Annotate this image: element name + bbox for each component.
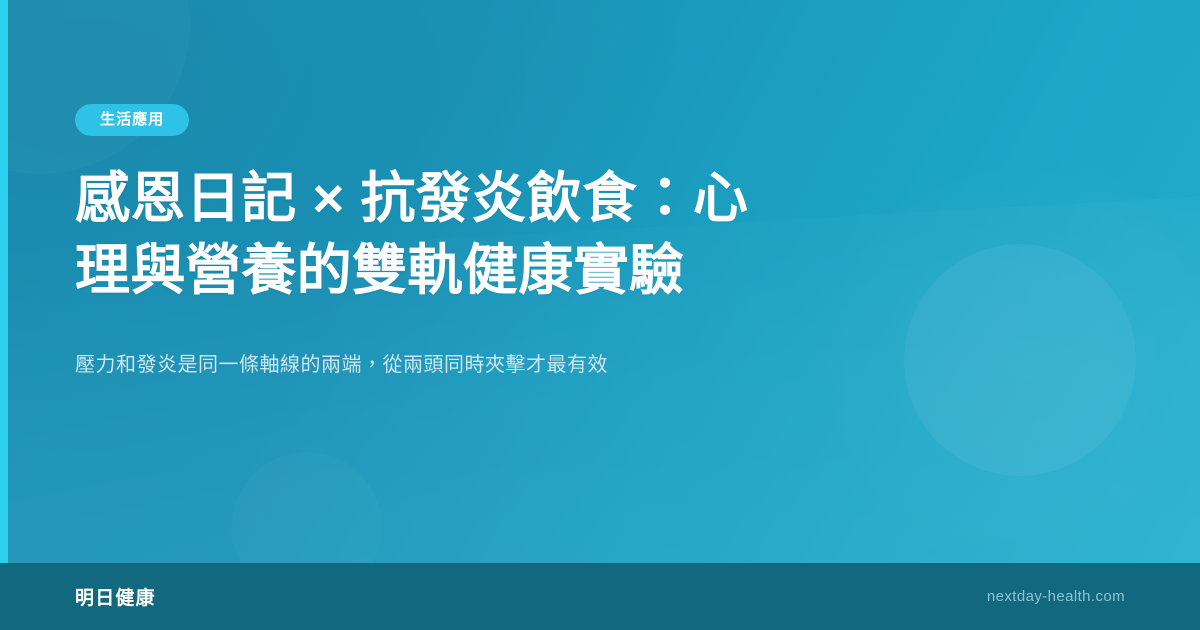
og-share-card: 生活應用 感恩日記 × 抗發炎飲食：心理與營養的雙軌健康實驗 壓力和發炎是同一條… [0, 0, 1200, 630]
card-content: 生活應用 感恩日記 × 抗發炎飲食：心理與營養的雙軌健康實驗 壓力和發炎是同一條… [75, 0, 835, 381]
footer-brand-name: 明日健康 [75, 583, 156, 610]
page-subtitle: 壓力和發炎是同一條軸線的兩端，從兩頭同時夾擊才最有效 [75, 349, 835, 381]
footer-site-url[interactable]: nextday-health.com [987, 588, 1125, 605]
decorative-circle-large [904, 244, 1136, 476]
category-badge[interactable]: 生活應用 [75, 104, 189, 136]
decorative-circle-halo [812, 152, 1200, 572]
left-accent-bar [0, 0, 8, 563]
footer-bar: 明日健康 nextday-health.com [0, 563, 1200, 630]
page-title: 感恩日記 × 抗發炎飲食：心理與營養的雙軌健康實驗 [75, 163, 795, 306]
